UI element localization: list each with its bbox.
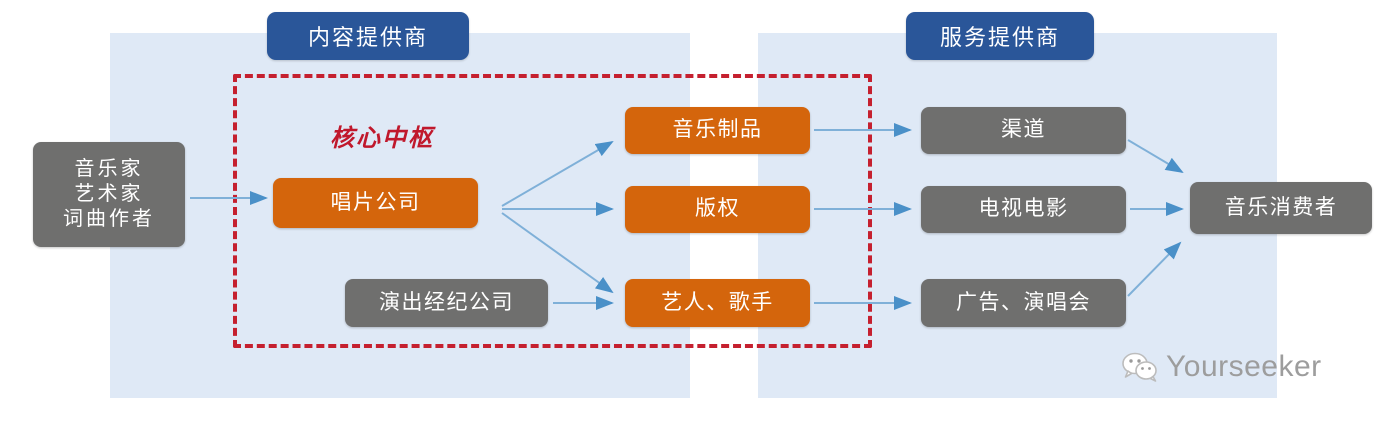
node-creators[interactable]: 音乐家 艺术家 词曲作者 — [33, 142, 185, 247]
watermark: Yourseeker — [1122, 350, 1322, 384]
diagram-canvas: 内容提供商 服务提供商 核心中枢 音乐家 艺术家 词曲作者 唱片公司 演出经纪公… — [0, 0, 1397, 427]
node-record-company[interactable]: 唱片公司 — [273, 178, 478, 228]
node-artists-singers[interactable]: 艺人、歌手 — [625, 279, 810, 327]
node-channel[interactable]: 渠道 — [921, 107, 1126, 154]
node-creators-line-3: 词曲作者 — [63, 207, 155, 232]
node-artists-singers-label: 艺人、歌手 — [661, 290, 774, 316]
node-channel-label: 渠道 — [1001, 117, 1046, 143]
node-tv-film[interactable]: 电视电影 — [921, 186, 1126, 233]
node-ads-concerts[interactable]: 广告、演唱会 — [921, 279, 1126, 327]
service-provider-header: 服务提供商 — [906, 12, 1094, 60]
service-provider-header-label: 服务提供商 — [940, 20, 1060, 52]
node-performance-agency[interactable]: 演出经纪公司 — [345, 279, 548, 327]
node-tv-film-label: 电视电影 — [979, 196, 1069, 222]
node-performance-agency-label: 演出经纪公司 — [379, 290, 514, 316]
watermark-text: Yourseeker — [1166, 350, 1322, 384]
node-copyright-label: 版权 — [695, 196, 740, 222]
node-record-company-label: 唱片公司 — [331, 190, 421, 216]
content-provider-header-label: 内容提供商 — [308, 20, 428, 52]
core-hub-label: 核心中枢 — [330, 118, 434, 153]
node-music-products[interactable]: 音乐制品 — [625, 107, 810, 154]
node-ads-concerts-label: 广告、演唱会 — [956, 290, 1091, 316]
node-music-products-label: 音乐制品 — [673, 117, 763, 143]
node-creators-line-2: 艺术家 — [75, 182, 144, 207]
node-music-consumer[interactable]: 音乐消费者 — [1190, 182, 1372, 234]
wechat-icon — [1122, 352, 1158, 382]
node-copyright[interactable]: 版权 — [625, 186, 810, 233]
content-provider-header: 内容提供商 — [267, 12, 469, 60]
node-music-consumer-label: 音乐消费者 — [1225, 195, 1338, 221]
node-creators-line-1: 音乐家 — [75, 157, 144, 182]
